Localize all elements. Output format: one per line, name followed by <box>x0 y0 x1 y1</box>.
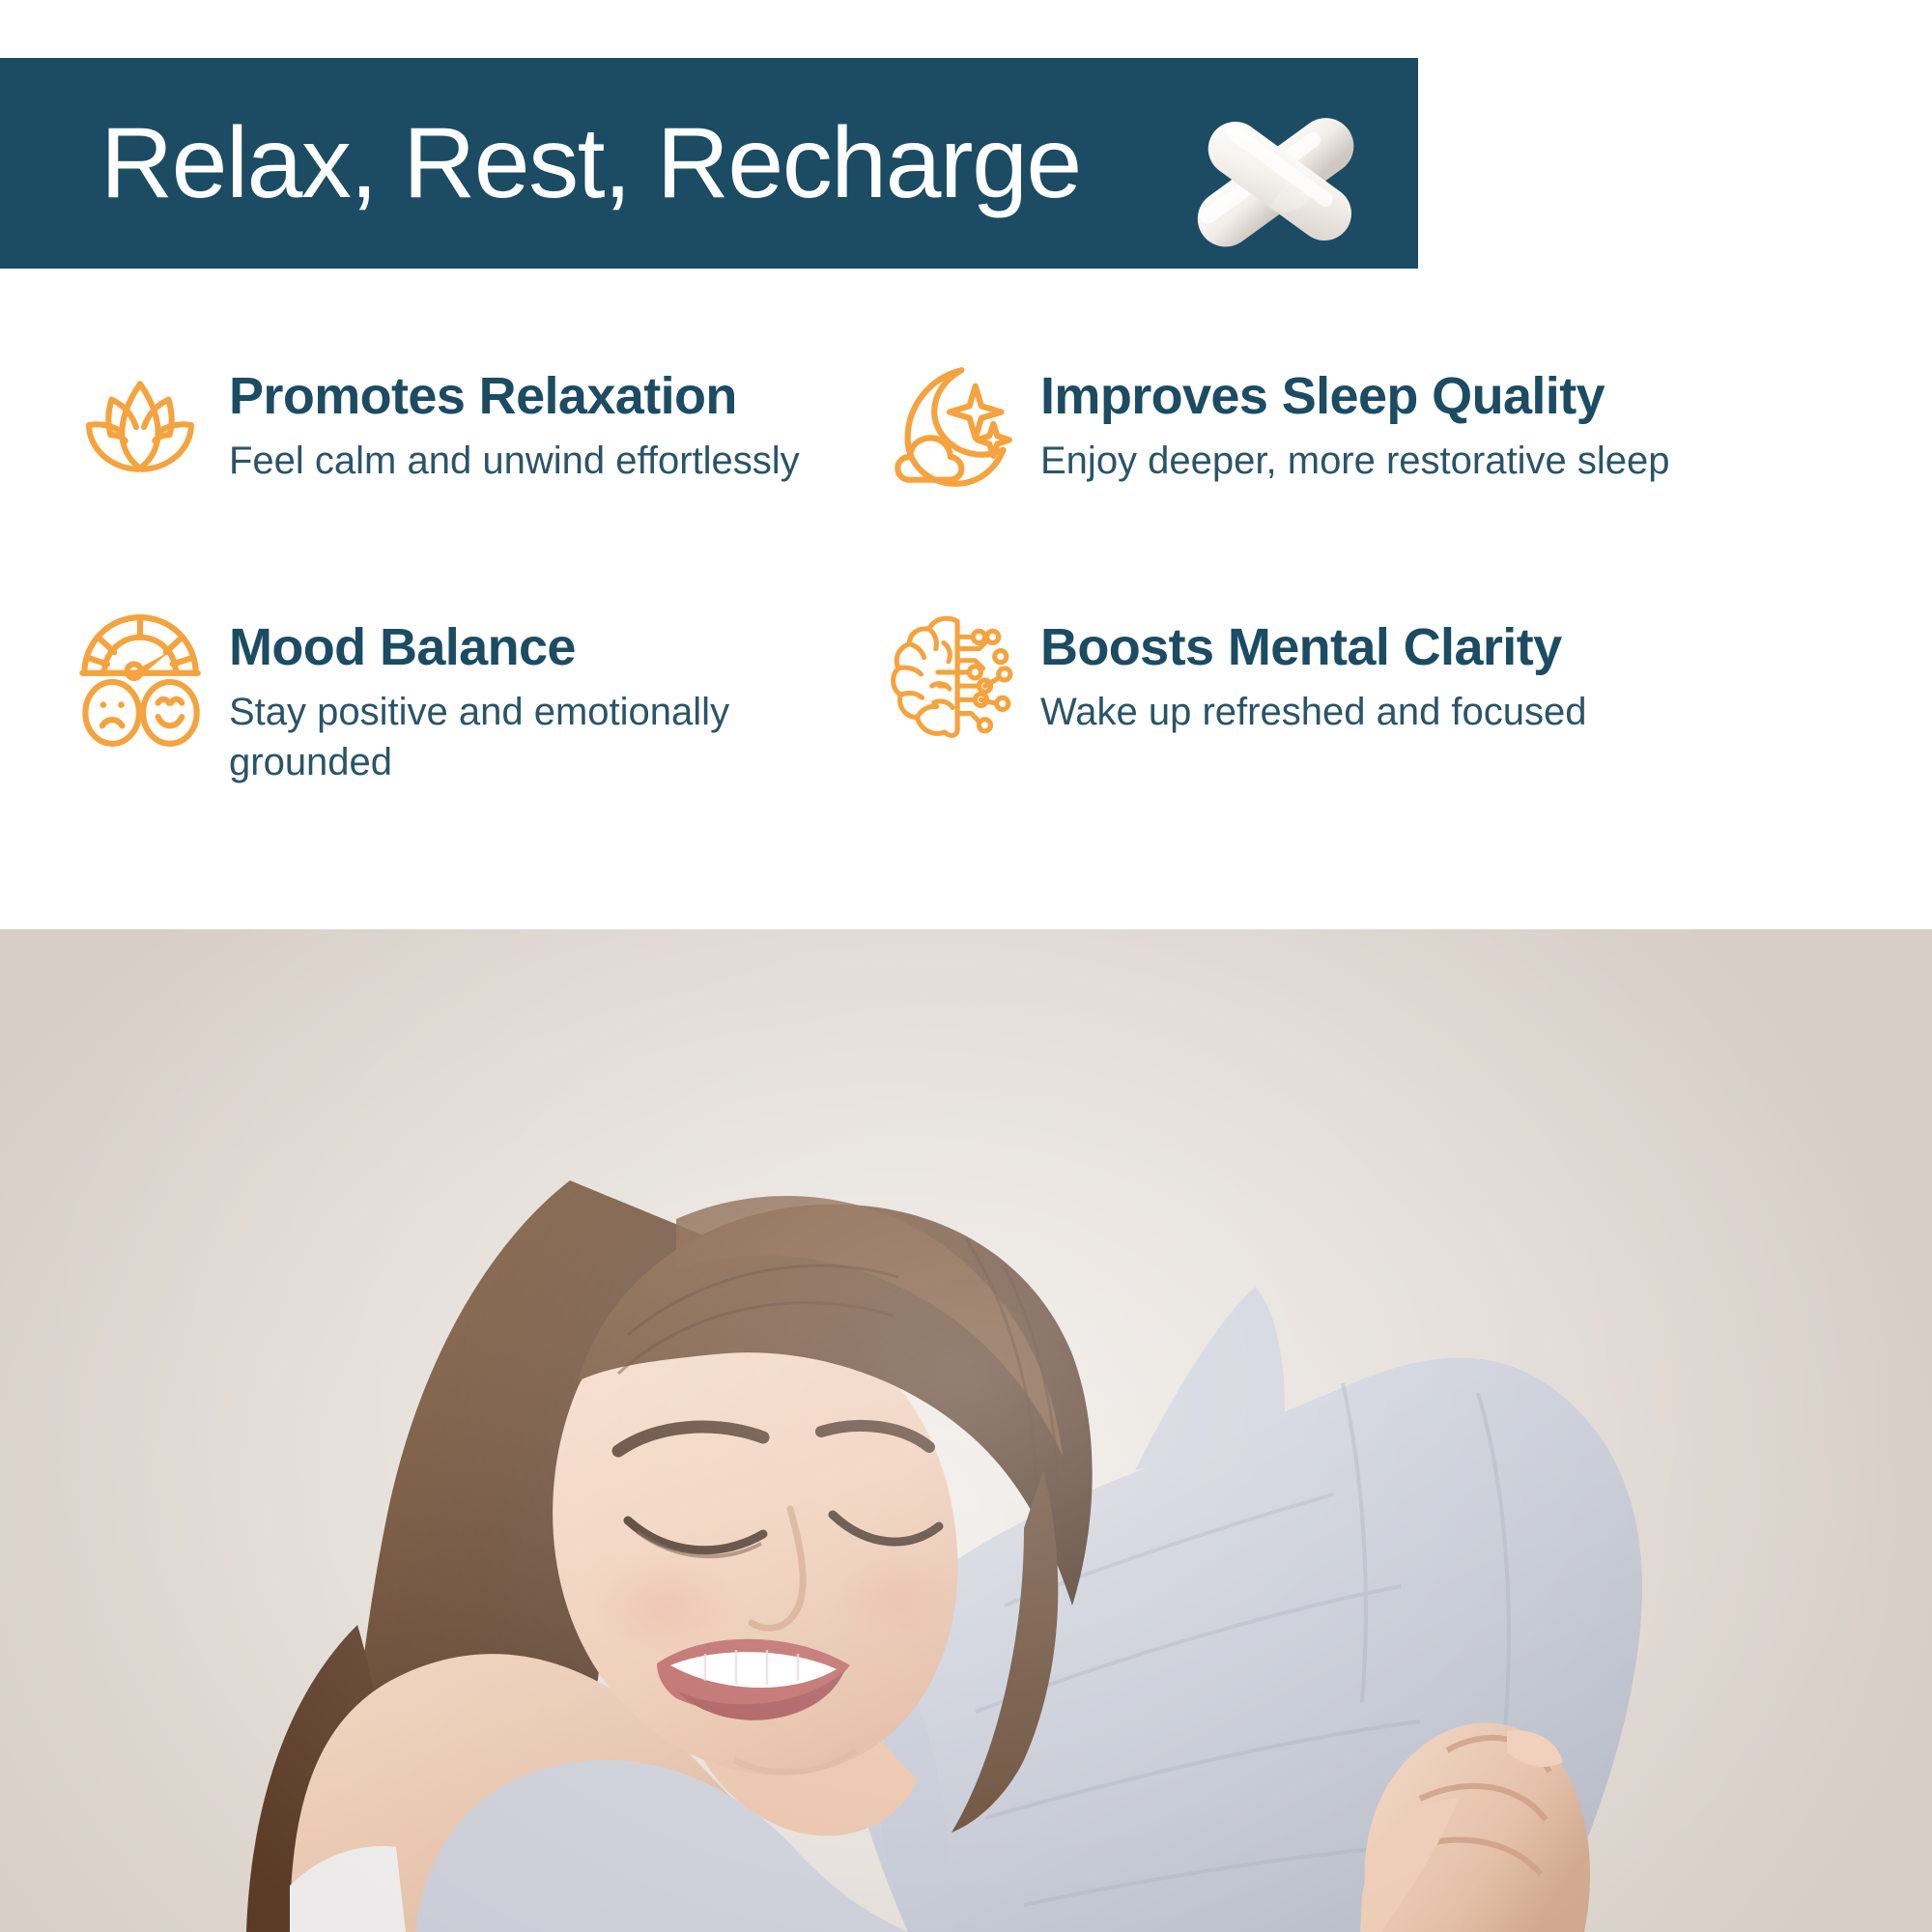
feature-text-block: Boosts Mental Clarity Wake up refreshed … <box>1040 613 1587 737</box>
feature-boosts-mental-clarity: Boosts Mental Clarity Wake up refreshed … <box>869 613 1893 865</box>
feature-text-block: Promotes Relaxation Feel calm and unwind… <box>229 362 800 486</box>
lifestyle-photo <box>0 929 1932 1932</box>
brain-circuit-icon <box>884 613 1019 749</box>
feature-text-block: Mood Balance Stay positive and emotional… <box>229 613 828 787</box>
feature-title: Improves Sleep Quality <box>1040 368 1669 424</box>
feature-text-block: Improves Sleep Quality Enjoy deeper, mor… <box>1040 362 1669 486</box>
feature-improves-sleep-quality: Improves Sleep Quality Enjoy deeper, mor… <box>869 362 1893 613</box>
lotus-flower-icon <box>72 362 208 497</box>
feature-description: Enjoy deeper, more restorative sleep <box>1040 436 1669 486</box>
photo-vignette <box>0 929 1932 1932</box>
feature-title: Mood Balance <box>229 619 828 675</box>
header-banner: Relax, Rest, Recharge <box>0 58 1418 269</box>
capsule-pills-icon <box>1174 95 1377 264</box>
feature-description: Stay positive and emotionally grounded <box>229 687 828 787</box>
feature-description: Feel calm and unwind effortlessly <box>229 436 800 486</box>
feature-title: Promotes Relaxation <box>229 368 800 424</box>
feature-mood-balance: Mood Balance Stay positive and emotional… <box>0 613 869 865</box>
feature-description: Wake up refreshed and focused <box>1040 687 1587 737</box>
page-title: Relax, Rest, Recharge <box>100 113 1081 213</box>
feature-grid: Promotes Relaxation Feel calm and unwind… <box>0 362 1932 903</box>
feature-promotes-relaxation: Promotes Relaxation Feel calm and unwind… <box>0 362 869 613</box>
crescent-moon-stars-cloud-icon <box>884 362 1019 497</box>
mood-gauge-faces-icon <box>72 613 208 749</box>
feature-title: Boosts Mental Clarity <box>1040 619 1587 675</box>
